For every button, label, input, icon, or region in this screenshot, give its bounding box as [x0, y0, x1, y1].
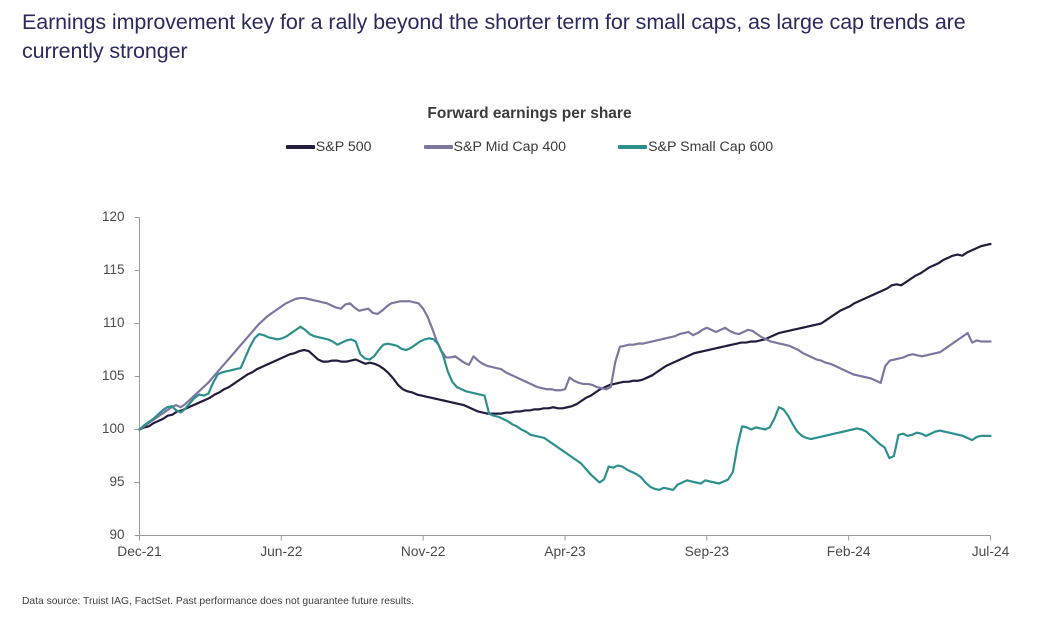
line-chart-svg	[0, 0, 1059, 619]
y-axis-tick-label: 100	[85, 421, 125, 436]
chart-footnote: Data source: Truist IAG, FactSet. Past p…	[22, 596, 414, 607]
x-axis-tick-label: Feb-24	[804, 544, 894, 559]
y-axis-tick-label: 105	[85, 368, 125, 383]
y-axis-tick-label: 120	[85, 209, 125, 224]
x-axis-tick-label: Dec-21	[95, 544, 185, 559]
x-axis-tick-label: Jun-22	[236, 544, 326, 559]
y-axis-tick-label: 95	[85, 474, 125, 489]
x-axis-tick-label: Apr-23	[520, 544, 610, 559]
y-axis-tick-label: 115	[85, 262, 125, 277]
x-axis-tick-label: Jul-24	[946, 544, 1036, 559]
x-axis-tick-label: Sep-23	[662, 544, 752, 559]
y-axis-tick-label: 90	[85, 527, 125, 542]
chart-plot-area: 9095100105110115120Dec-21Jun-22Nov-22Apr…	[0, 0, 1059, 619]
y-axis-tick-label: 110	[85, 315, 125, 330]
x-axis-tick-label: Nov-22	[378, 544, 468, 559]
